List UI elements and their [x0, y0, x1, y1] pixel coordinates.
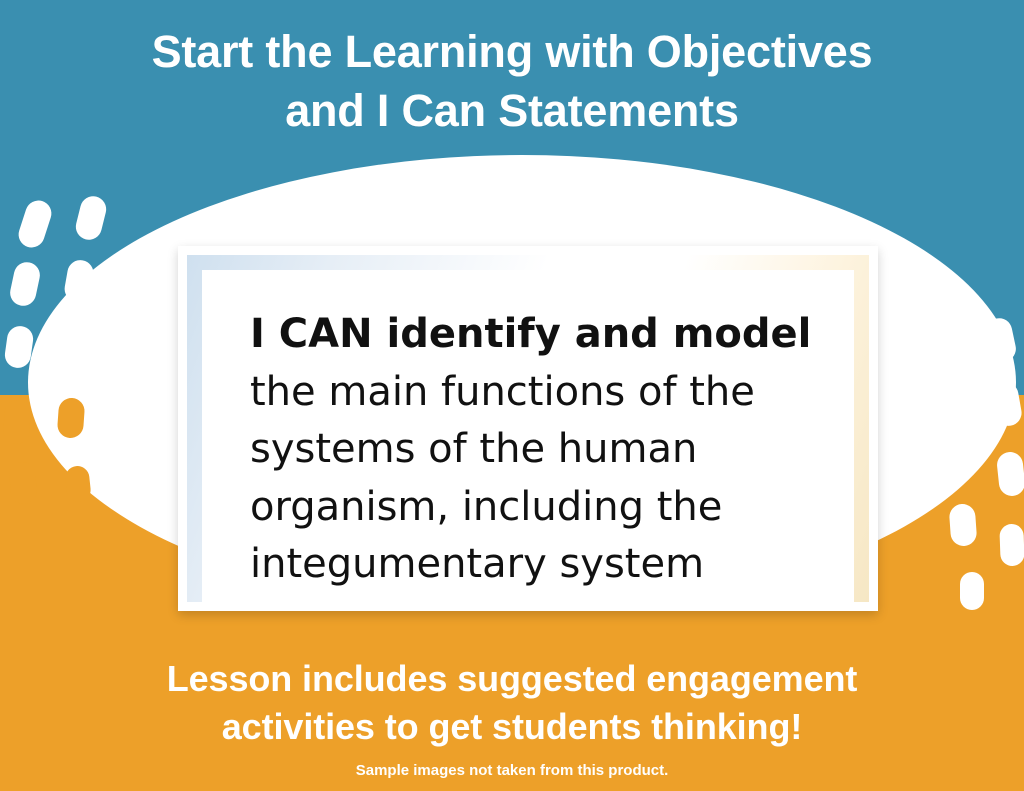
confetti-dash [999, 524, 1024, 567]
confetti-dash [960, 572, 984, 610]
i-can-statement-bold: I CAN identify and model [250, 311, 811, 357]
page-title: Start the Learning with Objectives and I… [0, 22, 1024, 141]
confetti-dash [2, 399, 31, 445]
confetti-dash [949, 503, 978, 547]
card-paper-area: I CAN identify and model the main functi… [202, 270, 854, 611]
subheading: Lesson includes suggested engagement act… [0, 655, 1024, 751]
subheading-line-2: activities to get students thinking! [0, 703, 1024, 751]
slide-canvas: I CAN identify and model the main functi… [0, 0, 1024, 791]
footnote-disclaimer: Sample images not taken from this produc… [0, 762, 1024, 779]
i-can-statement: I CAN identify and model the main functi… [250, 306, 836, 594]
confetti-dash [9, 461, 38, 505]
i-can-statement-body: the main functions of the systems of the… [250, 369, 755, 588]
confetti-dash [57, 397, 86, 439]
sample-image-card: I CAN identify and model the main functi… [178, 246, 878, 611]
page-title-line-1: Start the Learning with Objectives [152, 26, 873, 77]
subheading-line-1: Lesson includes suggested engagement [167, 658, 858, 699]
page-title-line-2: and I Can Statements [0, 81, 1024, 140]
